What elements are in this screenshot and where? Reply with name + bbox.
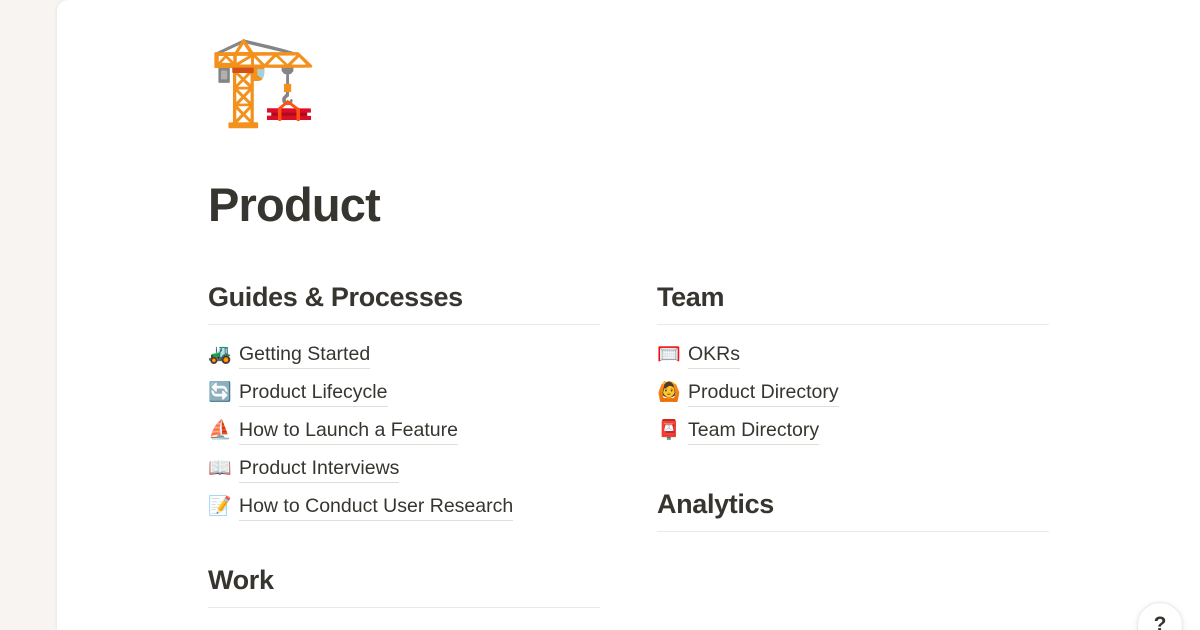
section-work: Work — [208, 564, 600, 608]
goal-net-icon: 🥅 — [657, 345, 679, 364]
postbox-icon: 📮 — [657, 421, 679, 440]
list-item[interactable]: 🔄 Product Lifecycle — [208, 374, 600, 412]
page-link-how-to-conduct-user-research[interactable]: How to Conduct User Research — [239, 493, 513, 521]
section-guides-and-processes: Guides & Processes 🚜 Getting Started 🔄 P… — [208, 281, 600, 526]
page-surface: 🏗️ Product Guides & Processes 🚜 Getting … — [57, 0, 1200, 630]
page-link-product-lifecycle[interactable]: Product Lifecycle — [239, 379, 388, 407]
section-heading-team: Team — [657, 281, 1049, 324]
section-divider — [208, 324, 600, 325]
page-icon-construction-crane-icon[interactable]: 🏗️ — [208, 36, 318, 124]
list-item[interactable]: 🚜 Getting Started — [208, 336, 600, 374]
section-heading-analytics: Analytics — [657, 488, 1049, 531]
counterclockwise-arrows-icon: 🔄 — [208, 383, 230, 402]
left-column: Guides & Processes 🚜 Getting Started 🔄 P… — [208, 281, 600, 619]
link-list-team: 🥅 OKRs 🙆 Product Directory 📮 Team Direct… — [657, 336, 1049, 450]
list-item[interactable]: 📮 Team Directory — [657, 412, 1049, 450]
right-column: Team 🥅 OKRs 🙆 Product Directory 📮 — [657, 281, 1049, 619]
page-content: 🏗️ Product Guides & Processes 🚜 Getting … — [208, 0, 1108, 630]
workspace-sidebar-rail — [0, 0, 57, 630]
sailboat-icon: ⛵ — [208, 421, 230, 440]
page-title: Product — [208, 178, 380, 232]
open-book-icon: 📖 — [208, 459, 230, 478]
page-link-getting-started[interactable]: Getting Started — [239, 341, 370, 369]
link-list-guides-and-processes: 🚜 Getting Started 🔄 Product Lifecycle ⛵ … — [208, 336, 600, 526]
page-link-product-interviews[interactable]: Product Interviews — [239, 455, 399, 483]
page-link-product-directory[interactable]: Product Directory — [688, 379, 839, 407]
list-item[interactable]: ⛵ How to Launch a Feature — [208, 412, 600, 450]
list-item[interactable]: 🙆 Product Directory — [657, 374, 1049, 412]
help-button[interactable]: ? — [1137, 602, 1183, 630]
section-divider — [657, 324, 1049, 325]
person-gesturing-ok-icon: 🙆 — [657, 383, 679, 402]
memo-icon: 📝 — [208, 497, 230, 516]
column-layout: Guides & Processes 🚜 Getting Started 🔄 P… — [208, 281, 1108, 619]
list-item[interactable]: 🥅 OKRs — [657, 336, 1049, 374]
section-heading-guides-and-processes: Guides & Processes — [208, 281, 600, 324]
list-item[interactable]: 📝 How to Conduct User Research — [208, 488, 600, 526]
list-item[interactable]: 📖 Product Interviews — [208, 450, 600, 488]
section-divider — [657, 531, 1049, 532]
section-analytics: Analytics — [657, 488, 1049, 532]
page-link-team-directory[interactable]: Team Directory — [688, 417, 819, 445]
section-team: Team 🥅 OKRs 🙆 Product Directory 📮 — [657, 281, 1049, 450]
section-heading-work: Work — [208, 564, 600, 607]
page-link-okrs[interactable]: OKRs — [688, 341, 740, 369]
section-divider — [208, 607, 600, 608]
tractor-icon: 🚜 — [208, 345, 230, 364]
page-link-how-to-launch-a-feature[interactable]: How to Launch a Feature — [239, 417, 458, 445]
